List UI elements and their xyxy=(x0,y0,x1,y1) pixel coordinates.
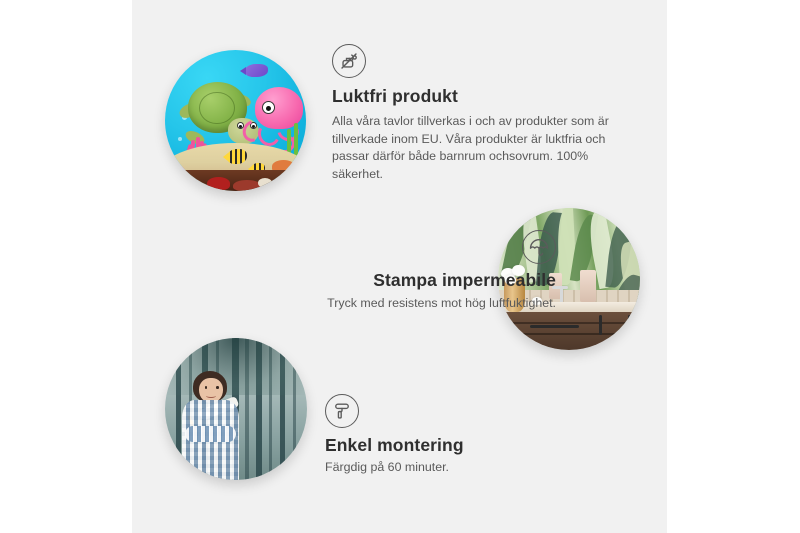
feature-waterproof-print: Stampa impermeabile Tryck med resistens … xyxy=(220,230,556,313)
feature-title: Enkel montering xyxy=(325,435,625,456)
content-panel: Luktfri produkt Alla våra tavlor tillver… xyxy=(132,0,667,533)
feature-easy-mounting: Enkel montering Färgdig på 60 minuter. xyxy=(325,394,625,477)
no-odour-icon xyxy=(332,44,366,78)
feature-odour-free: Luktfri produkt Alla våra tavlor tillver… xyxy=(332,44,624,183)
paint-roller-icon xyxy=(325,394,359,428)
infographic-canvas: Luktfri produkt Alla våra tavlor tillver… xyxy=(0,0,800,533)
feature-body: Alla våra tavlor tillverkas i och av pro… xyxy=(332,113,624,183)
product-image-underwater-scene xyxy=(165,50,306,191)
feature-body: Färgdig på 60 minuter. xyxy=(325,459,625,477)
product-image-woman-paint-roller xyxy=(165,338,307,480)
umbrella-icon xyxy=(522,230,556,264)
feature-body: Tryck med resistens mot hög luftfuktighe… xyxy=(220,295,556,313)
feature-title: Luktfri produkt xyxy=(332,86,624,107)
feature-title: Stampa impermeabile xyxy=(220,270,556,291)
